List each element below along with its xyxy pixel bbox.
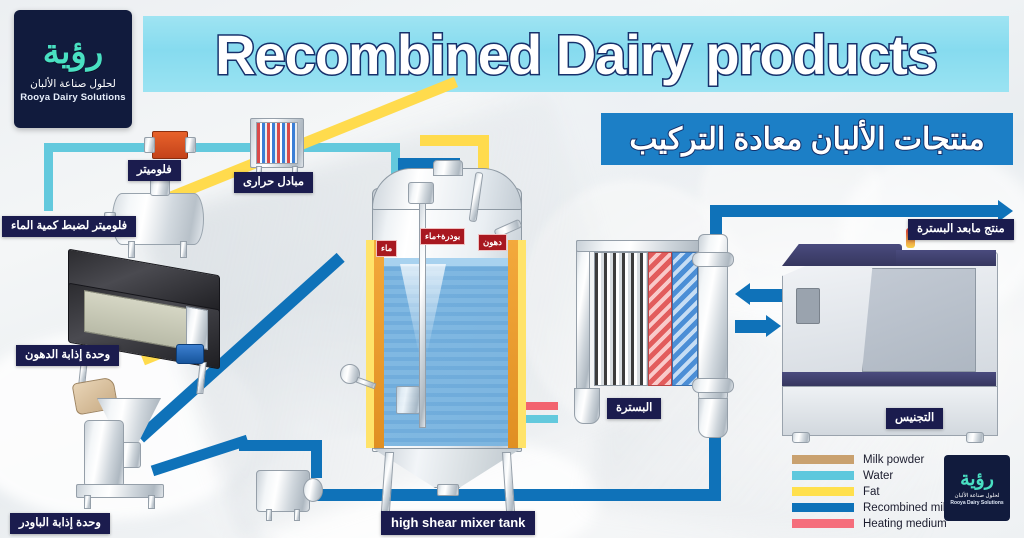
pasteurizer-leg-right (698, 398, 728, 438)
pipe-product-out-run (710, 205, 1000, 217)
homogenizer-top-panel (896, 250, 996, 266)
legend-swatch-recombined-milk (792, 503, 854, 512)
label-powder-dissolving-unit: وحدة إذابة الباودر (10, 513, 110, 534)
pipe-homogenizer-to-pasteurizer (750, 289, 782, 302)
brand-logo-english-tagline: Rooya Dairy Solutions (20, 92, 126, 103)
mixer-tank-jacket-left (374, 240, 384, 448)
legend-label-fat: Fat (863, 486, 880, 498)
feed-pump-leg-left (266, 509, 272, 521)
powder-unit-leg-right (148, 495, 155, 509)
label-pasteurization: البسترة (607, 398, 661, 419)
pipe-heating-in (524, 402, 558, 410)
mixer-tank-outlet-valve (437, 484, 459, 496)
tank-inlet-fat-label: دهون (478, 234, 507, 251)
mixer-tank-jacket-edge-right (518, 240, 526, 448)
tank-inlet-water-label: ماء (376, 240, 397, 257)
homogenizer-foot-right (966, 432, 984, 443)
label-mixer-tank: high shear mixer tank (381, 511, 535, 535)
legend-brand-logo: رؤية لحلول صناعة الألبان Rooya Dairy Sol… (944, 455, 1010, 521)
label-flowmeter: فلوميتر (128, 160, 181, 181)
mixer-tank-liquid (378, 262, 514, 446)
pipe-flowmeter-to-exchanger (190, 143, 250, 152)
mixer-tank-jacket-edge-left (366, 240, 374, 448)
legend-item: Water (792, 468, 962, 483)
legend-item: Heating medium (792, 516, 962, 531)
title-banner: Recombined Dairy products (143, 16, 1009, 92)
homogenizer-waist-band (782, 372, 996, 386)
legend: Milk powder Water Fat Recombined milk He… (792, 452, 962, 532)
page-subtitle-arabic: منتجات الألبان معادة التركيب (629, 122, 984, 157)
pipe-pasteurizer-to-homogenizer (735, 320, 767, 333)
pasteurizer-port-bottom (692, 378, 734, 393)
legend-logo-arabic-tagline: لحلول صناعة الألبان (955, 493, 1000, 499)
feed-pump-body (256, 470, 310, 512)
label-post-pasteurization-product: منتج مابعد البسترة (908, 219, 1014, 240)
feed-pump-head (303, 478, 323, 502)
pasteurizer-cold-section (672, 252, 698, 386)
homogenizer-foot-left (792, 432, 810, 443)
legend-item: Milk powder (792, 452, 962, 467)
mixer-tank-manway (433, 160, 463, 176)
mixer-tank-sight-glass (396, 386, 420, 414)
powder-unit-leg-left (84, 495, 91, 509)
homogenizer-top-cap (782, 244, 902, 266)
mixer-tank-jacket-right (508, 240, 518, 448)
legend-label-heating-medium: Heating medium (863, 518, 947, 530)
subtitle-banner: منتجات الألبان معادة التركيب (601, 113, 1013, 165)
legend-label-recombined-milk: Recombined milk (863, 502, 951, 514)
legend-swatch-heating-medium (792, 519, 854, 528)
flowmeter-device (152, 131, 188, 159)
legend-swatch-water (792, 471, 854, 480)
water-tank-manway (150, 178, 170, 196)
feed-pump-leg-right (294, 509, 300, 521)
legend-logo-english-tagline: Rooya Dairy Solutions (950, 500, 1003, 506)
brand-logo-arabic-mark: رؤية (43, 35, 104, 69)
pipe-water-to-flowmeter (44, 143, 150, 152)
legend-swatch-milk-powder (792, 455, 854, 464)
pipe-cooling-in (524, 415, 558, 423)
arrow-homogenizer-to-pasteurizer-icon (735, 283, 750, 305)
label-water-flowmeter: فلوميتر لضبط كمية الماء (2, 216, 136, 237)
fat-melting-unit-pump (176, 344, 204, 364)
label-heat-exchanger: مبادل حرارى (234, 172, 313, 193)
brand-logo: رؤية لحلول صناعة الألبان Rooya Dairy Sol… (14, 10, 132, 128)
legend-swatch-fat (792, 487, 854, 496)
pipe-tank-outlet-main (316, 489, 721, 501)
legend-label-milk-powder: Milk powder (863, 454, 924, 466)
flowmeter-flange-left (144, 137, 155, 153)
pipe-water-riser (44, 143, 53, 211)
water-tank-leg-left (128, 241, 135, 258)
mixer-tank-liquid-surface (378, 258, 514, 266)
label-fat-melting-unit: وحدة إذابة الدهون (16, 345, 119, 366)
page-title: Recombined Dairy products (215, 22, 937, 87)
water-tank-leg-right (180, 241, 187, 258)
pipe-pump-feed-horiz (239, 440, 319, 451)
heat-exchanger-plates (256, 122, 298, 164)
tank-inlet-powder-water-label: بودرة+ماء (420, 228, 465, 245)
powder-tank-vertical (84, 420, 124, 488)
label-homogenization: التجنيس (886, 408, 943, 429)
arrow-pasteurizer-to-homogenizer-icon (766, 315, 781, 337)
legend-item: Fat (792, 484, 962, 499)
pasteurizer-port-top (692, 252, 734, 267)
infographic-canvas: رؤية لحلول صناعة الألبان Rooya Dairy Sol… (0, 0, 1024, 538)
brand-logo-arabic-tagline: لحلول صناعة الألبان (30, 78, 116, 90)
pasteurizer-plate-pack (594, 252, 648, 386)
pasteurizer-frame-left (576, 240, 590, 392)
pasteurizer-hot-section (648, 252, 672, 386)
homogenizer-control-panel (796, 288, 820, 324)
legend-label-water: Water (863, 470, 893, 482)
pasteurizer-leg-left (574, 388, 600, 424)
flowmeter-flange-right (185, 137, 196, 153)
legend-logo-arabic-mark: رؤية (960, 470, 994, 489)
homogenizer-window (862, 268, 976, 372)
legend-item: Recombined milk (792, 500, 962, 515)
mixer-agitator-motor (408, 182, 434, 204)
pasteurizer-frame-top (576, 240, 718, 252)
